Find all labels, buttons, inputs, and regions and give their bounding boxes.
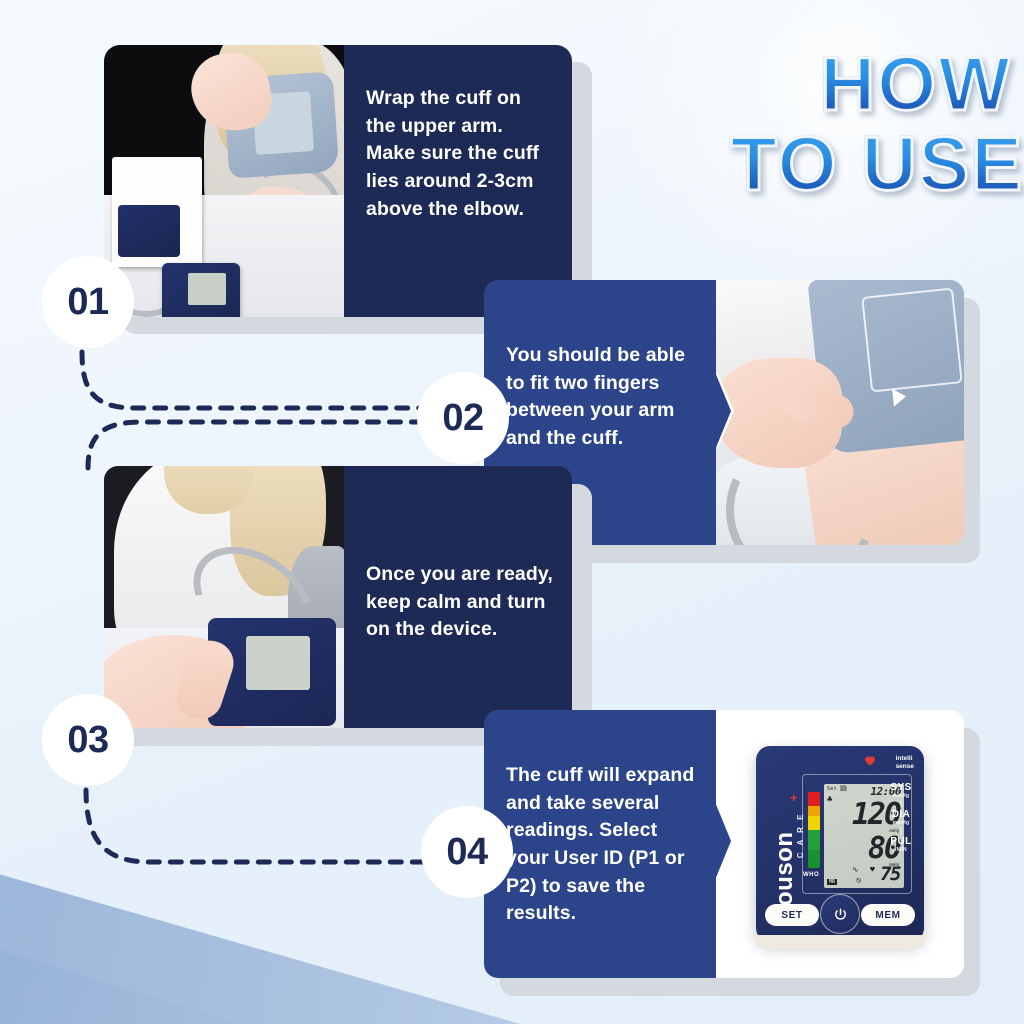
step-description-4: The cuff will expand and take several re… (506, 762, 702, 928)
lcd-pulse-wave-icon: ∿ (852, 865, 859, 874)
step-number-4: 04 (421, 806, 513, 898)
lcd-battery-icon: ♣ (827, 795, 832, 805)
who-label: WHO (803, 872, 819, 878)
step-photo-1 (104, 45, 344, 317)
step-card-1: Wrap the cuff on the upper arm. Make sur… (104, 45, 572, 317)
blood-pressure-monitor: + ouson C A R E intelli sense WHO (756, 746, 924, 942)
step-text-panel-4: The cuff will expand and take several re… (484, 710, 716, 978)
step-number-3: 03 (42, 694, 134, 786)
step-photo-3 (104, 466, 344, 728)
step-description-3: Once you are ready, keep calm and turn o… (366, 561, 554, 644)
who-indicator-bar (808, 792, 820, 868)
lcd-alarm-icon: ⎋ (856, 876, 861, 886)
label-pul-unit: /MIN (880, 847, 922, 853)
step-card-3: Once you are ready, keep calm and turn o… (104, 466, 572, 728)
step-photo-4: + ouson C A R E intelli sense WHO (716, 710, 964, 978)
lcd-pulse-value: 75 (880, 863, 900, 885)
step-photo-2 (716, 280, 964, 545)
intellisense-logo: intelli sense (896, 755, 914, 770)
background-glow (584, 0, 1024, 300)
device-power-button[interactable] (820, 894, 860, 934)
lcd-memory-tag: MR (827, 879, 837, 885)
device-set-button[interactable]: SET (765, 904, 819, 926)
step-card-4-wrapper: The cuff will expand and take several re… (484, 710, 964, 978)
device-base (753, 935, 927, 949)
power-icon (833, 907, 848, 922)
device-mem-button[interactable]: MEM (861, 904, 915, 926)
step-description-1: Wrap the cuff on the upper arm. Make sur… (366, 85, 552, 223)
step-number-2: 02 (417, 372, 509, 464)
label-sys: SYS (880, 782, 922, 793)
label-divider-1: | (880, 799, 922, 809)
step-number-1: 01 (42, 256, 134, 348)
step-text-panel-3: Once you are ready, keep calm and turn o… (344, 466, 572, 728)
infographic-poster: Wrap the cuff on the upper arm. Make sur… (0, 0, 1024, 1024)
label-dia: DIA (880, 809, 922, 820)
lcd-heart-icon: ♥ (870, 865, 875, 874)
measurement-labels: SYS mmHg | DIA mmHg | PUL /MIN (880, 782, 922, 853)
step-description-2: You should be able to fit two fingers be… (506, 342, 700, 453)
label-pul: PUL (880, 836, 922, 847)
lcd-top-icons: Set ▒▒ (827, 786, 847, 792)
heart-logo-icon (865, 756, 877, 766)
step-text-panel-1: Wrap the cuff on the upper arm. Make sur… (344, 45, 572, 317)
label-divider-2: | (880, 826, 922, 836)
